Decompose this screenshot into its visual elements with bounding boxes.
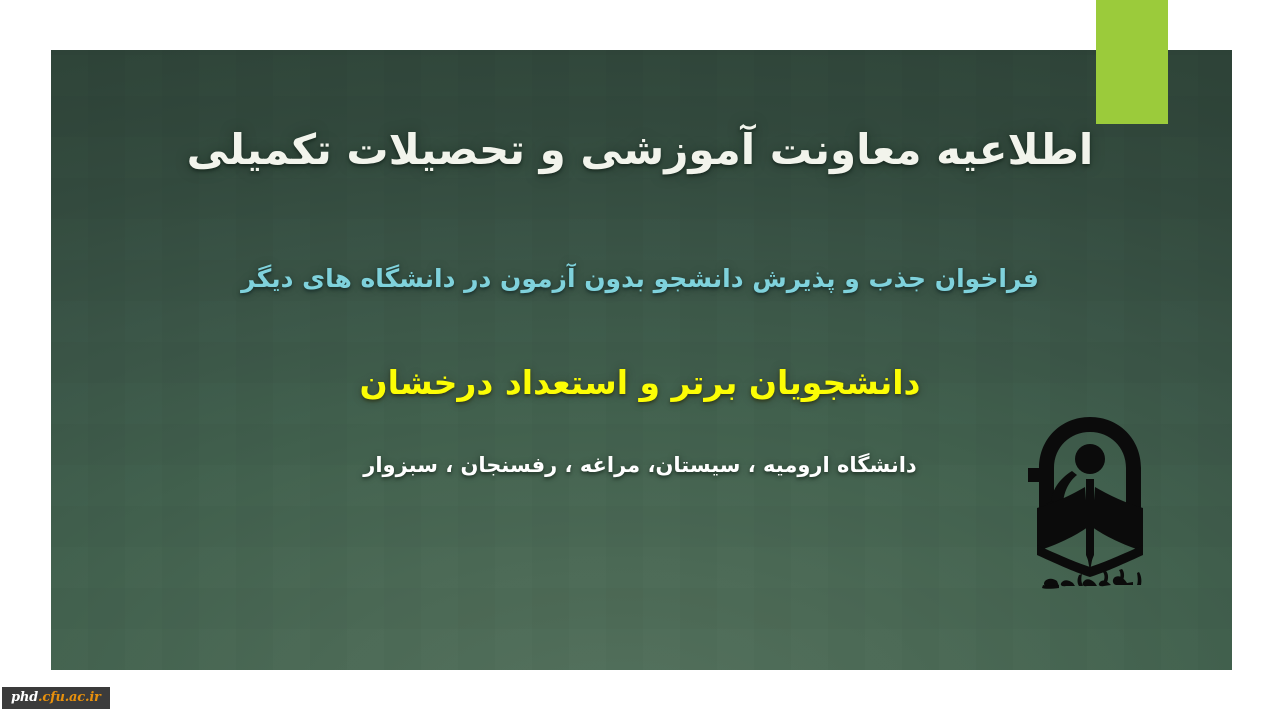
slide-text-block: اطلاعیه معاونت آموزشی و تحصیلات تکمیلی ف…	[0, 0, 1280, 720]
watermark-prefix: phd	[11, 690, 38, 705]
slide-canvas: اطلاعیه معاونت آموزشی و تحصیلات تکمیلی ف…	[0, 0, 1280, 720]
watermark-domain: .cfu.ac.ir	[38, 690, 101, 705]
slide-title: اطلاعیه معاونت آموزشی و تحصیلات تکمیلی	[60, 118, 1220, 181]
farhangian-university-logo	[1015, 405, 1165, 590]
site-watermark: phd.cfu.ac.ir	[2, 687, 110, 709]
slide-highlight-text: دانشجویان برتر و استعداد درخشان	[60, 358, 1220, 408]
slide-subtitle: فراخوان جذب و پذیرش دانشجو بدون آزمون در…	[60, 260, 1220, 298]
